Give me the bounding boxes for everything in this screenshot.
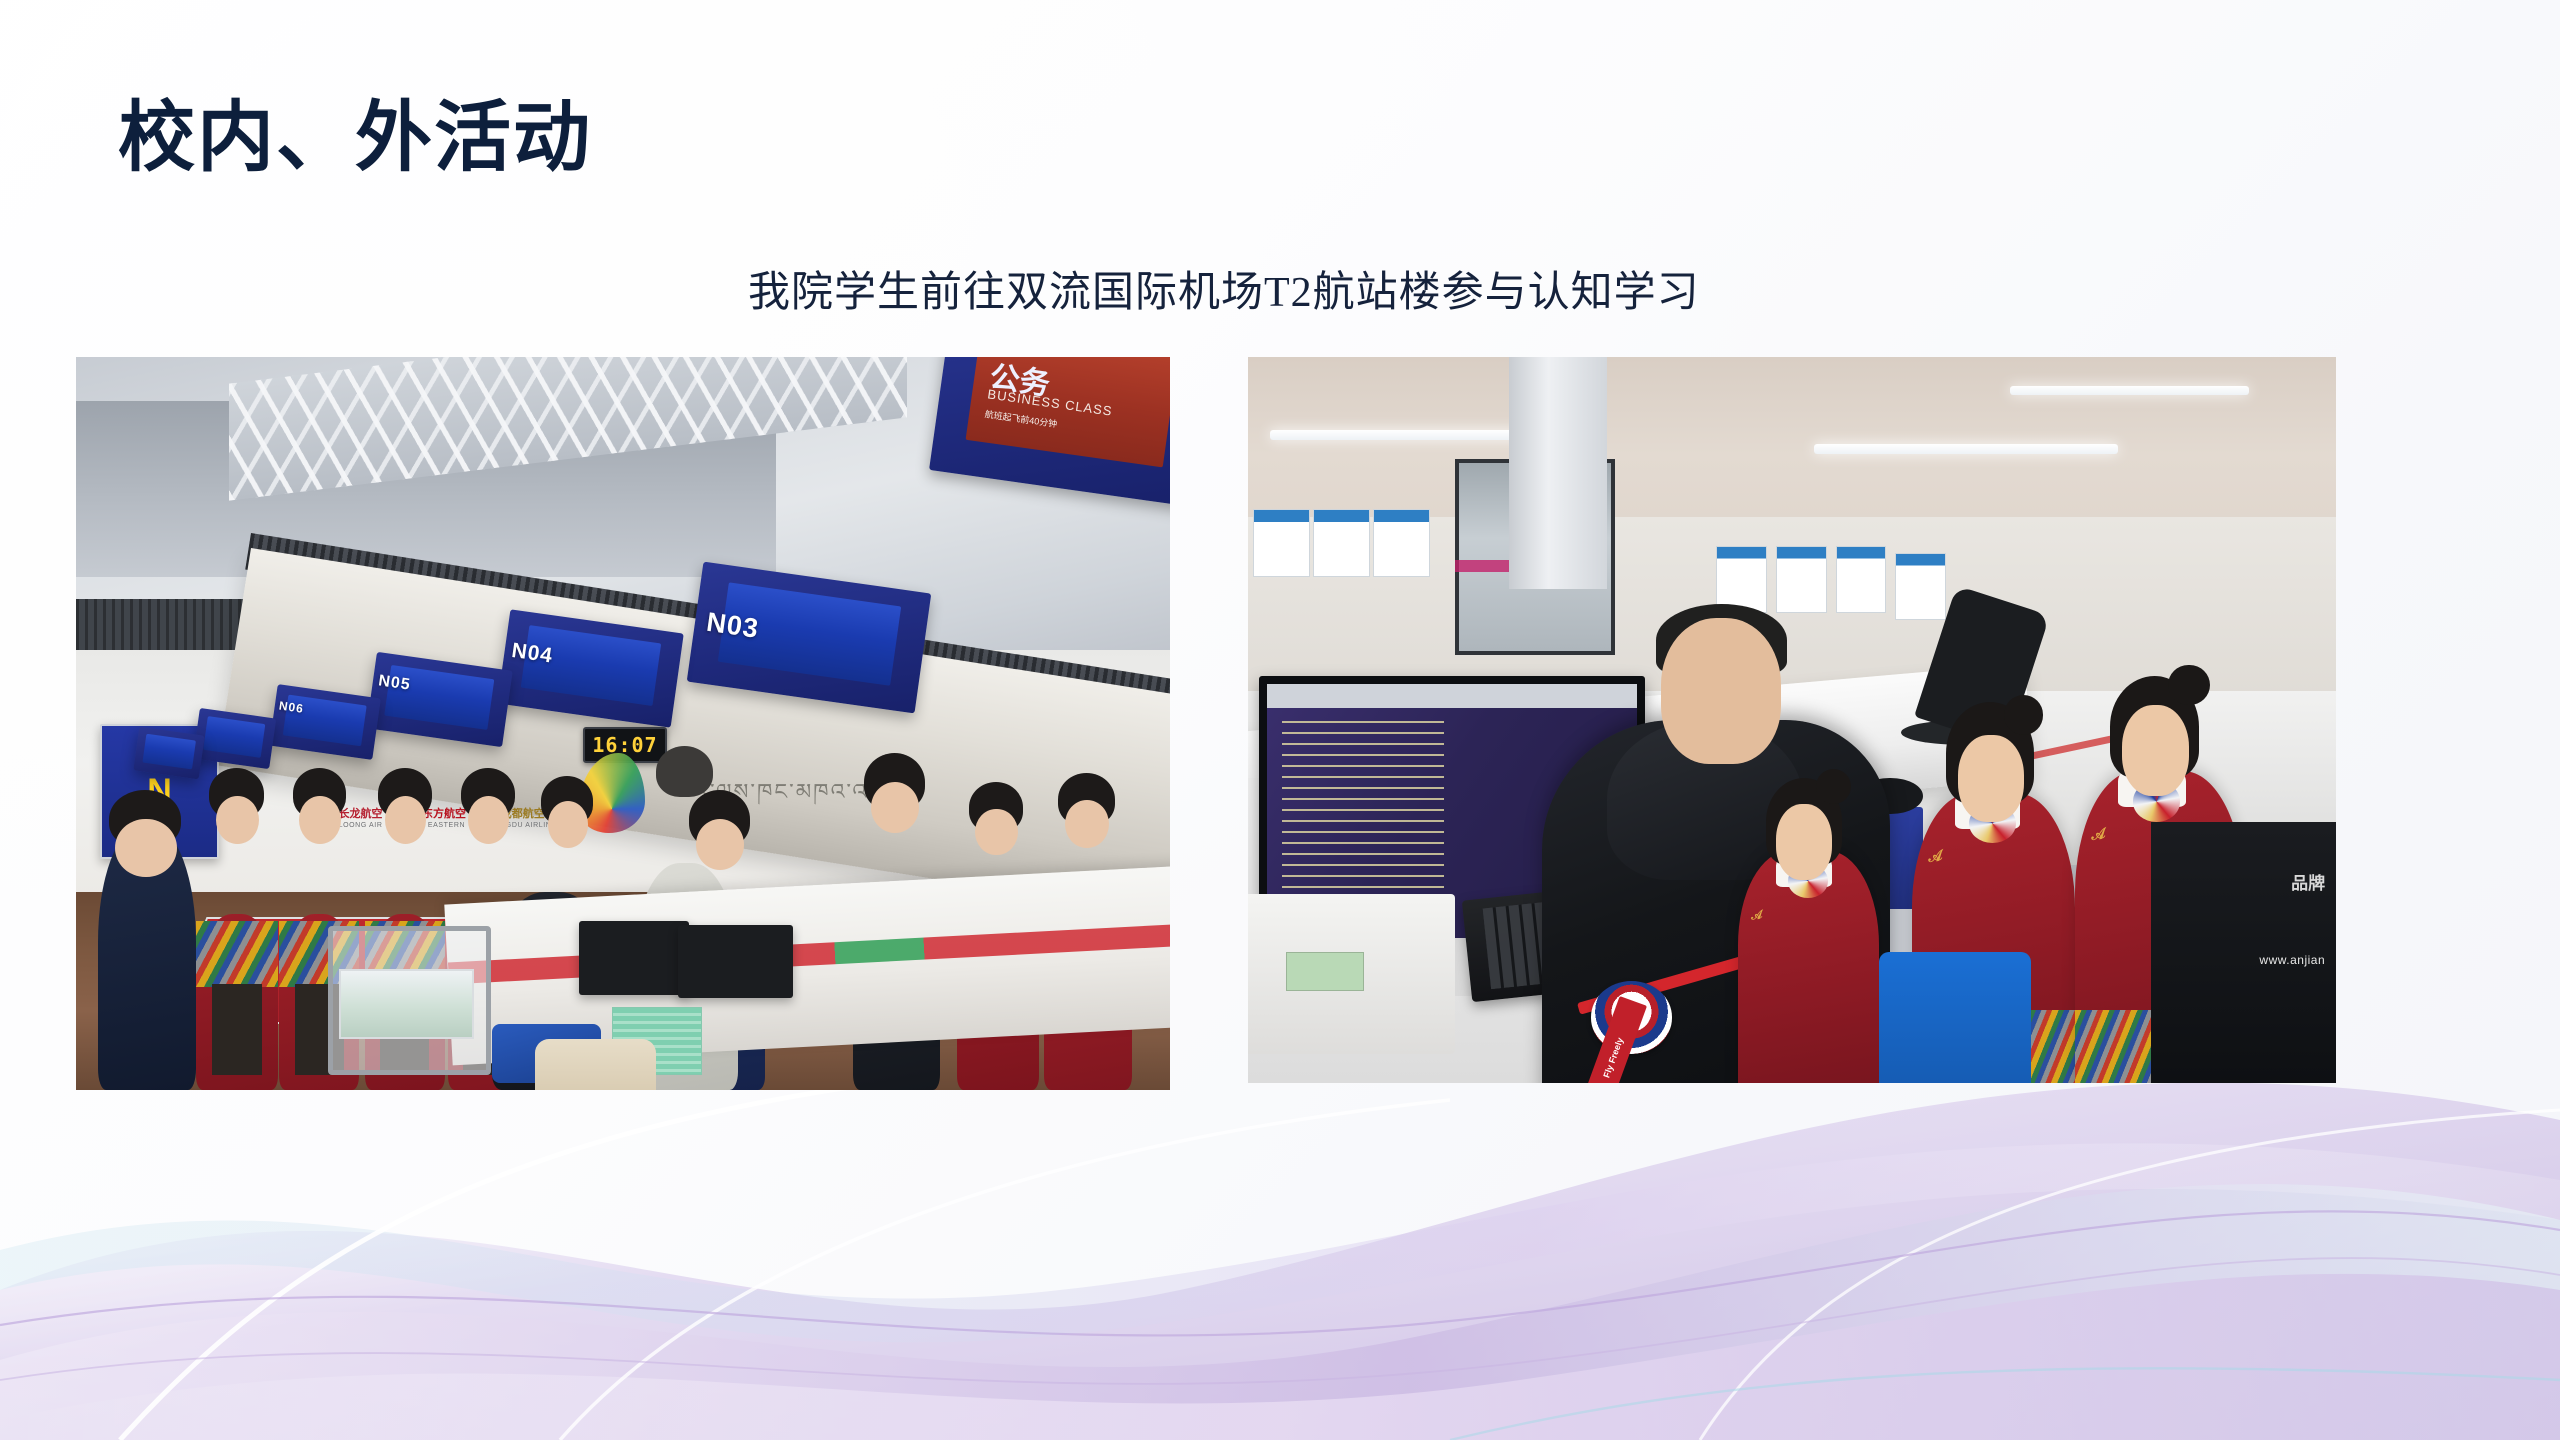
page-title: 校内、外活动 (118, 98, 592, 180)
student-at-counter-head-1 (975, 809, 1018, 856)
logo-loong-en: LOONG AIR (339, 822, 383, 829)
printer-display (1286, 952, 1364, 990)
notice-board-3 (1373, 509, 1429, 576)
student-hair-bun-right-3 (1816, 769, 1851, 804)
business-class-screen: 公务 BUSINESS CLASS 航班起飞前40分钟 (965, 357, 1170, 467)
student-skirt-1 (196, 921, 278, 987)
counter-screen-far-1 (204, 716, 266, 758)
ceiling-light-3 (2010, 386, 2249, 395)
instructor-head (115, 819, 176, 878)
counter-label-n05: N05 (378, 673, 413, 695)
student-face-right-2 (2122, 705, 2189, 796)
counter-label-n04: N04 (510, 638, 554, 668)
logo-loong-air: 长龙航空 LOONG AIR (339, 809, 383, 829)
logo-loong-cn: 长龙航空 (339, 809, 383, 820)
student-at-counter-head-2 (1065, 800, 1109, 848)
uniform-embroidery-right-1: 𝒜 (1927, 847, 1943, 866)
monitor-title-bar (1267, 684, 1637, 708)
photo-airport-checkin-hall: N N03 N04 N05 N06 (76, 357, 1170, 1090)
student-head-3 (385, 796, 427, 844)
counter-monitor-1 (579, 921, 688, 994)
uniform-embroidery-right-2: 𝒜 (2090, 826, 2106, 845)
notice-board-6 (1836, 546, 1887, 613)
student-hair-bun-right-1 (2004, 695, 2043, 734)
beige-chair (535, 1039, 655, 1090)
ceiling-light-2 (1814, 444, 2119, 454)
banner-url-text: www.anjian (2259, 953, 2325, 967)
presentation-slide: 校内、外活动 我院学生前往双流国际机场T2航站楼参与认知学习 N N03 (0, 0, 2560, 1440)
counter-label-n06: N06 (278, 698, 305, 715)
student-face-right-3 (1776, 804, 1833, 880)
student-head-5 (548, 801, 588, 848)
notice-board-2 (1313, 509, 1369, 576)
notice-board-1 (1253, 509, 1309, 576)
notice-board-4 (1716, 546, 1767, 613)
student-legs-1 (212, 984, 262, 1076)
notice-board-5 (1776, 546, 1827, 613)
blue-chair (1879, 952, 2031, 1083)
student-hair-bun-right-2 (2168, 665, 2209, 706)
student-head-1 (216, 796, 259, 844)
counter-label-n03: N03 (705, 606, 761, 644)
business-class-note: 航班起飞前40分钟 (984, 407, 1058, 430)
counter-kiosk-far-2 (133, 726, 204, 779)
terminal-text-lines (1282, 721, 1445, 920)
counter-monitor-2 (678, 925, 793, 998)
slide-subtitle: 我院学生前往双流国际机场T2航站楼参与认知学习 (748, 267, 1700, 320)
notice-board-7 (1895, 553, 1946, 620)
passenger-hair (656, 746, 713, 797)
photo-checkin-desk-operation: Fly Freely 𝒜 𝒜 𝒜 (1248, 357, 2336, 1083)
operator-head (1661, 618, 1781, 763)
counter-screen-far-2 (142, 734, 195, 770)
luggage-cart-ad-panel (339, 969, 474, 1039)
student-head-2 (299, 796, 341, 844)
structural-column (1509, 357, 1607, 589)
banner-cn-text: 品牌 (2291, 869, 2325, 894)
student-face-right-1 (1958, 735, 2023, 822)
uniform-embroidery-right-3: 𝒜 (1750, 908, 1763, 924)
counter-kiosk-far-1 (193, 707, 276, 768)
